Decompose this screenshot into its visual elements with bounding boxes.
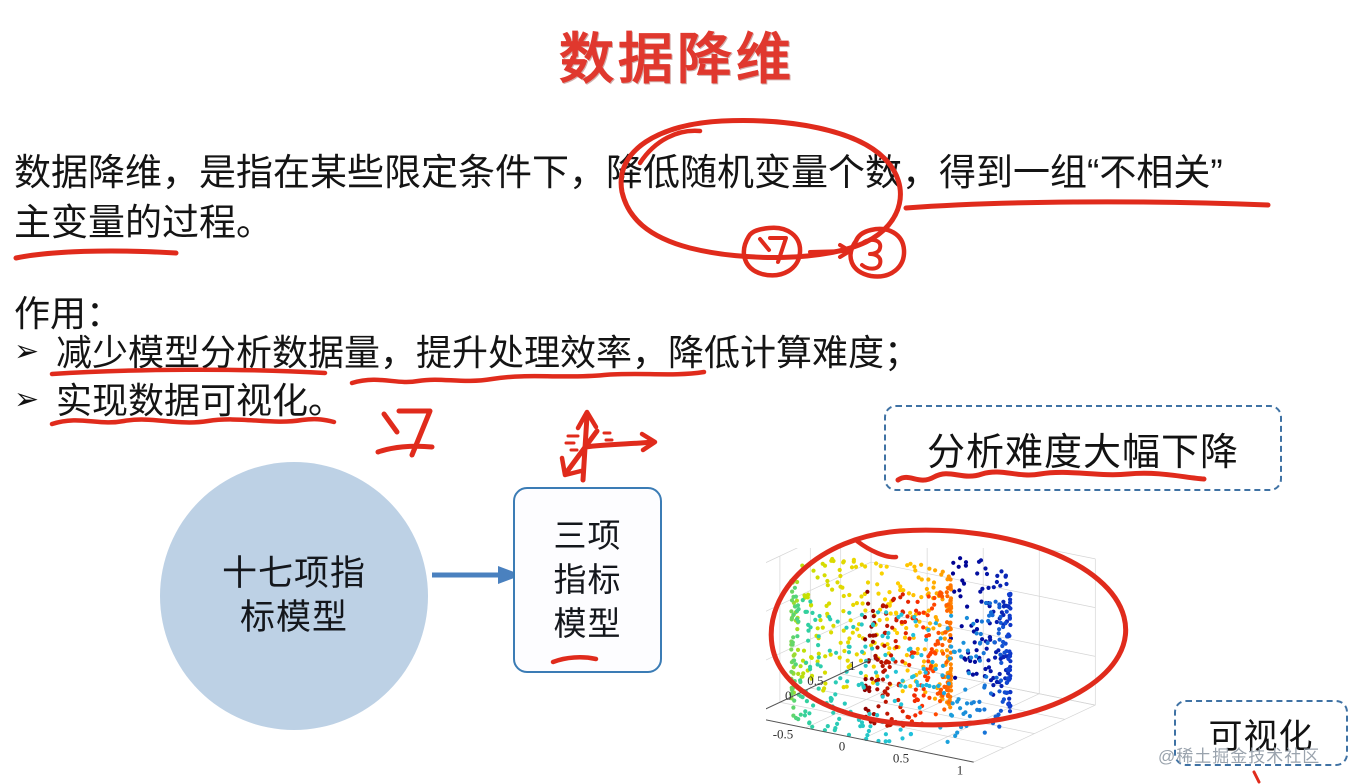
- plot-tick-label: 1: [849, 658, 856, 673]
- annotation-axes-vertical: [583, 416, 587, 480]
- annotation-axes-horizontal: [585, 442, 653, 447]
- annotation-tick-visualization: [1254, 772, 1259, 782]
- watermark: @稀土掘金技术社区: [1158, 742, 1320, 767]
- diagram-target-node: 三项 指标 模型: [513, 487, 662, 673]
- callout-difficulty: 分析难度大幅下降: [884, 405, 1282, 491]
- scatter-plot-3d: 024-0.500.51-0.500.51: [766, 548, 1166, 784]
- definition-line-2: 主变量的过程。: [14, 198, 1314, 248]
- annotation-axes-depth-head: [562, 458, 581, 475]
- diagram-source-label-line1: 十七项指: [222, 552, 366, 596]
- plot-tick-label: 0: [839, 739, 846, 754]
- plot-tick-label: 0.5: [893, 751, 909, 766]
- plot-tick-label: -0.5: [773, 727, 794, 742]
- annotation-arrow-shaft: [810, 251, 848, 252]
- scatter-plot-canvas: 024-0.500.51-0.500.51: [766, 548, 1166, 784]
- annotation-axes-horizontal-head: [642, 434, 655, 450]
- flow-arrow-icon: [432, 562, 524, 588]
- plot-tick-label: 0: [785, 688, 792, 703]
- diagram-target-label-line1: 三项: [554, 514, 622, 558]
- diagram-target-label-line3: 模型: [554, 602, 622, 646]
- page-title: 数据降维: [0, 14, 1354, 94]
- annotation-axes-depth: [566, 431, 597, 473]
- diagram-target-label-line2: 指标: [554, 558, 622, 602]
- list-item-label: 实现数据可视化。: [56, 380, 344, 422]
- diagram-source-node: 十七项指 标模型: [160, 462, 428, 730]
- plot-tick-label: 0.5: [807, 673, 823, 688]
- annotation-axes-hatch: [566, 433, 612, 450]
- bullet-arrow-icon: ➢: [14, 332, 56, 372]
- definition-line-1: 数据降维，是指在某些限定条件下，降低随机变量个数，得到一组“不相关”: [14, 152, 1223, 193]
- diagram-source-label: 十七项指 标模型: [222, 552, 366, 640]
- list-item-label: 减少模型分析数据量，提升处理效率，降低计算难度；: [56, 332, 920, 374]
- annotation-handwritten-17: [384, 411, 430, 455]
- list-item: ➢ 实现数据可视化。: [14, 380, 344, 422]
- callout-difficulty-label: 分析难度大幅下降: [927, 421, 1239, 476]
- plot-tick-label: 1: [957, 763, 964, 778]
- definition-paragraph: 数据降维，是指在某些限定条件下，降低随机变量个数，得到一组“不相关” 主变量的过…: [14, 148, 1314, 248]
- purpose-heading: 作用：: [14, 285, 122, 337]
- diagram-source-label-line2: 标模型: [222, 596, 366, 640]
- annotation-axes-vertical-head: [578, 412, 596, 428]
- annotation-underline-1: [16, 251, 176, 258]
- diagram-target-label: 三项 指标 模型: [554, 514, 622, 646]
- annotation-handwritten-17-underline: [378, 446, 432, 452]
- bullet-arrow-icon: ➢: [14, 380, 56, 420]
- list-item: ➢ 减少模型分析数据量，提升处理效率，降低计算难度；: [14, 332, 920, 374]
